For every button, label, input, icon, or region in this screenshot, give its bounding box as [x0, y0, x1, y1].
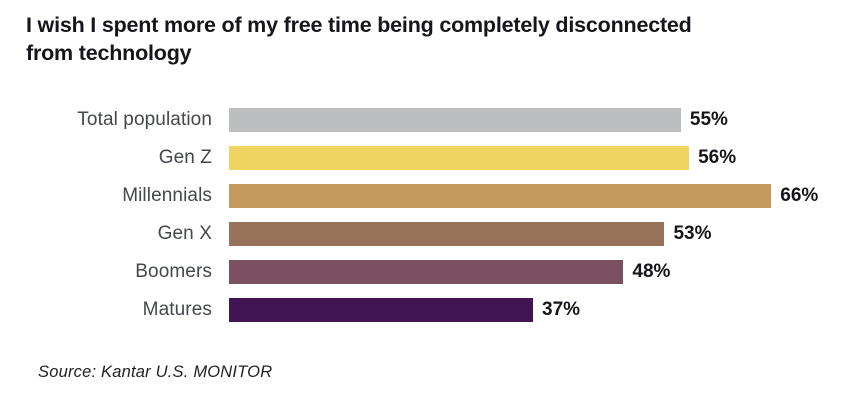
bar-row: Millennials66% — [0, 177, 852, 215]
bar-chart-plot-area: Total population55%Gen Z56%Millennials66… — [0, 101, 852, 329]
bar-category-label: Total population — [0, 108, 212, 132]
bar-row: Gen X53% — [0, 215, 852, 253]
chart-container: I wish I spent more of my free time bein… — [0, 0, 852, 407]
bar-track: 48% — [229, 260, 852, 284]
bar-category-label: Matures — [0, 298, 212, 322]
bar-track: 66% — [229, 184, 852, 208]
bar-value-label: 48% — [632, 260, 670, 284]
bar-track: 56% — [229, 146, 852, 170]
bar-track: 55% — [229, 108, 852, 132]
bar-value-label: 55% — [690, 108, 728, 132]
bar-value-label: 53% — [673, 222, 711, 246]
bar-row: Matures37% — [0, 291, 852, 329]
bar-category-label: Boomers — [0, 260, 212, 284]
bar-segment — [229, 184, 771, 208]
bar-category-label: Gen Z — [0, 146, 212, 170]
bar-segment — [229, 146, 689, 170]
bar-segment — [229, 108, 681, 132]
bar-track: 53% — [229, 222, 852, 246]
bar-segment — [229, 222, 664, 246]
bar-value-label: 37% — [542, 298, 580, 322]
bar-value-label: 56% — [698, 146, 736, 170]
bar-category-label: Gen X — [0, 222, 212, 246]
bar-value-label: 66% — [780, 184, 818, 208]
bar-row: Gen Z56% — [0, 139, 852, 177]
source-note: Source: Kantar U.S. MONITOR — [38, 363, 272, 382]
bar-row: Boomers48% — [0, 253, 852, 291]
chart-title: I wish I spent more of my free time bein… — [26, 11, 706, 67]
bar-track: 37% — [229, 298, 852, 322]
bar-segment — [229, 260, 623, 284]
bar-row: Total population55% — [0, 101, 852, 139]
bar-category-label: Millennials — [0, 184, 212, 208]
bar-segment — [229, 298, 533, 322]
